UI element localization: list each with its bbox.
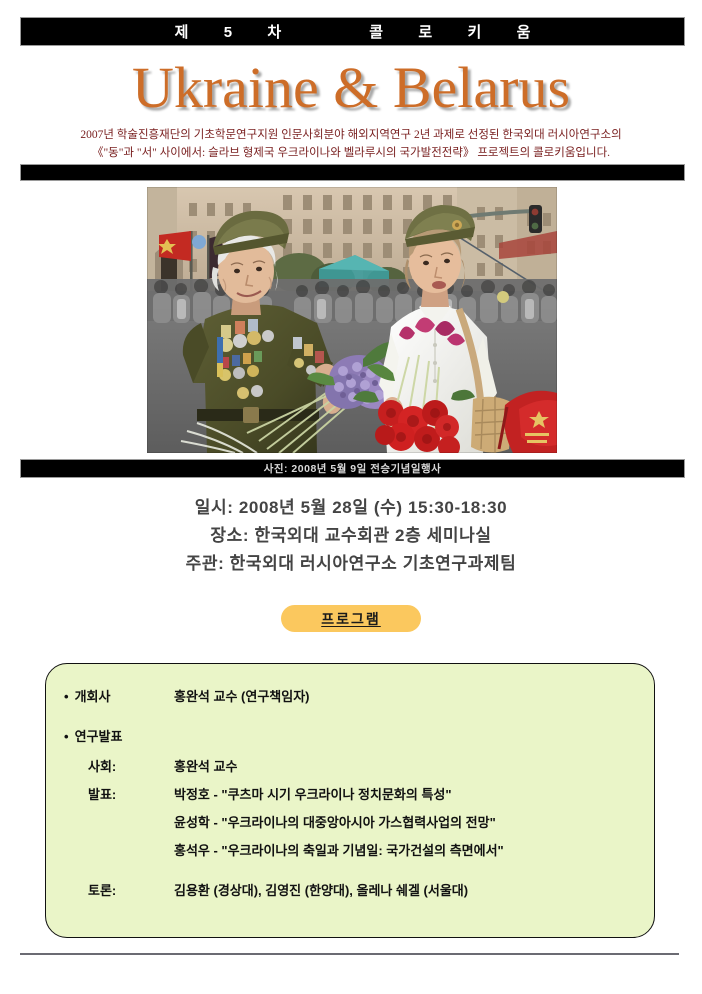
photo-caption-text: 사진: 2008년 5월 9일 전승기념일행사: [264, 461, 442, 476]
program-opening-label: 개회사: [64, 686, 110, 705]
program-opening-row: 개회사: [64, 686, 110, 705]
photo-caption-bar: 사진: 2008년 5월 9일 전승기념일행사: [20, 459, 685, 478]
event-host: 주관: 한국외대 러시아연구소 기초연구과제팀: [0, 550, 702, 578]
colloquium-banner-text: 제 5 차 콜 로 키 움: [166, 21, 540, 42]
photo-top-divider: [20, 164, 685, 181]
program-chair-label: 사회:: [88, 756, 116, 775]
program-discussion-value-row: 김용환 (경상대), 김영진 (한양대), 올레나 쉐겔 (서울대): [174, 880, 468, 899]
program-chair-label-row: 사회:: [88, 756, 116, 775]
program-discussion-label: 토론:: [88, 880, 116, 899]
event-photo: [147, 187, 557, 453]
program-presentation-row: 박정호 - "쿠츠마 시기 우크라이나 정치문화의 특성": [174, 784, 452, 803]
program-discussion-label-row: 토론:: [88, 880, 116, 899]
program-presentation-3: 홍석우 - "우크라이나의 축일과 기념일: 국가건설의 측면에서": [174, 840, 504, 859]
description-line-1: 2007년 학술진흥재단의 기초학문연구지원 인문사회분야 해외지역연구 2년 …: [0, 126, 702, 142]
description-line-2: 《"동"과 "서" 사이에서: 슬라브 형제국 우크라이나와 벨라루시의 국가발…: [0, 144, 702, 160]
program-session-row: 연구발표: [64, 726, 122, 745]
program-presentation-label-row: 발표:: [88, 784, 116, 803]
program-opening-value: 홍완석 교수 (연구책임자): [174, 686, 309, 705]
event-venue: 장소: 한국외대 교수회관 2층 세미나실: [0, 522, 702, 550]
program-chair-value-row: 홍완석 교수: [174, 756, 237, 775]
event-photo-illustration: [147, 187, 557, 453]
program-discussion-value: 김용환 (경상대), 김영진 (한양대), 올레나 쉐겔 (서울대): [174, 880, 468, 899]
program-badge: 프로그램: [281, 605, 421, 632]
program-session-label: 연구발표: [64, 726, 122, 745]
event-datetime: 일시: 2008년 5월 28일 (수) 15:30-18:30: [0, 494, 702, 522]
program-presentation-row: 윤성학 - "우크라이나의 대중앙아시아 가스협력사업의 전망": [174, 812, 496, 831]
program-box: 개회사 홍완석 교수 (연구책임자) 연구발표 사회: 홍완석 교수 발표: 박…: [45, 663, 655, 938]
program-presentation-row: 홍석우 - "우크라이나의 축일과 기념일: 국가건설의 측면에서": [174, 840, 504, 859]
event-details: 일시: 2008년 5월 28일 (수) 15:30-18:30 장소: 한국외…: [0, 494, 702, 578]
colloquium-banner: 제 5 차 콜 로 키 움: [20, 17, 685, 46]
program-presentation-2: 윤성학 - "우크라이나의 대중앙아시아 가스협력사업의 전망": [174, 812, 496, 831]
program-presentation-label: 발표:: [88, 784, 116, 803]
program-chair-value: 홍완석 교수: [174, 756, 237, 775]
program-badge-label: 프로그램: [321, 609, 381, 629]
page-title: Ukraine & Belarus: [0, 56, 702, 120]
program-opening-value-row: 홍완석 교수 (연구책임자): [174, 686, 309, 705]
footer-divider: [20, 953, 679, 955]
program-presentation-1: 박정호 - "쿠츠마 시기 우크라이나 정치문화의 특성": [174, 784, 452, 803]
